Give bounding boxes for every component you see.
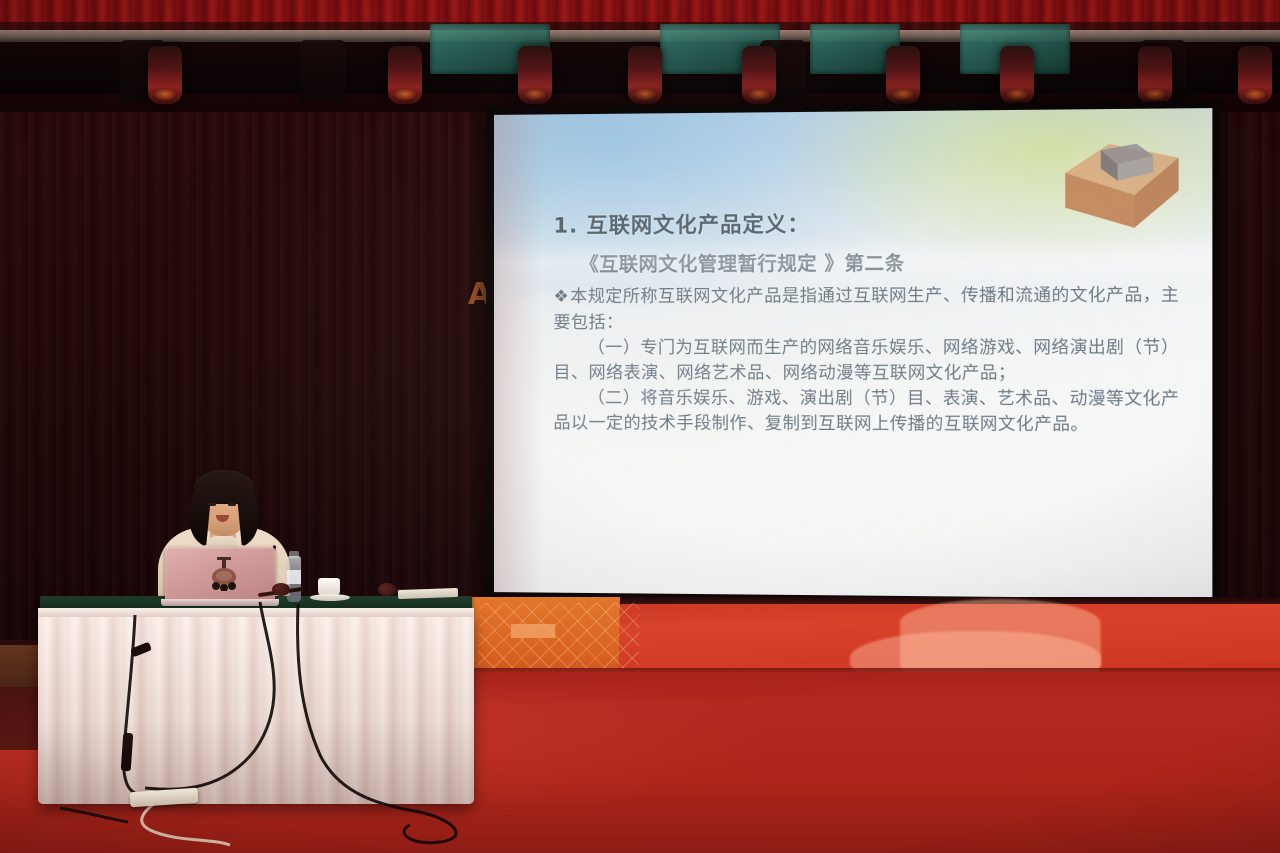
presenter-eye-left bbox=[208, 503, 216, 506]
stage-light bbox=[1138, 46, 1172, 104]
slide-content: 1. 互联网文化产品定义： 《互联网文化管理暂行规定 》第二条 ❖本规定所称互联… bbox=[553, 206, 1182, 438]
truss-bar bbox=[0, 30, 1280, 42]
stage-light bbox=[518, 46, 552, 104]
slide-paragraph-0-text: 本规定所称互联网文化产品是指通过互联网生产、传播和流通的文化产品，主要包括： bbox=[553, 286, 1179, 333]
ceiling-area bbox=[0, 0, 1280, 112]
projection-screen: 1. 互联网文化产品定义： 《互联网文化管理暂行规定 》第二条 ❖本规定所称互联… bbox=[494, 108, 1212, 599]
laptop-sticker-icon bbox=[209, 557, 239, 591]
presentation-scene-photo: A 1. 互联网文化产品定义： 《互联网文化管理暂行规定 》第二条 bbox=[0, 0, 1280, 853]
slide-paragraph-1: （一）专门为互联网而生产的网络音乐娱乐、网络游戏、网络演出剧（节）目、网络表演、… bbox=[553, 335, 1182, 387]
stage-light bbox=[148, 46, 182, 104]
stage-lamp-housing bbox=[300, 40, 346, 102]
stage-light bbox=[1000, 46, 1034, 104]
stage-light bbox=[886, 46, 920, 104]
slide-title: 1. 互联网文化产品定义： bbox=[553, 206, 1182, 240]
floor-cables bbox=[0, 590, 520, 853]
slide-subtitle: 《互联网文化管理暂行规定 》第二条 bbox=[580, 248, 1183, 278]
stage-light bbox=[628, 46, 662, 104]
slide-paragraph-2: （二）将音乐娱乐、游戏、演出剧（节）目、表演、艺术品、动漫等文化产品以一定的技术… bbox=[553, 386, 1182, 439]
presenter-eye-right bbox=[228, 503, 236, 506]
projection-screen-frame: 1. 互联网文化产品定义： 《互联网文化管理暂行规定 》第二条 ❖本规定所称互联… bbox=[486, 101, 1220, 607]
bullet-marker-icon: ❖ bbox=[553, 287, 569, 307]
stage-light bbox=[1238, 46, 1272, 104]
bottle-label bbox=[287, 570, 301, 584]
stage-light bbox=[388, 46, 422, 104]
slide-paragraph-0: ❖本规定所称互联网文化产品是指通过互联网生产、传播和流通的文化产品，主要包括： bbox=[553, 283, 1182, 335]
stage-light bbox=[742, 46, 776, 104]
